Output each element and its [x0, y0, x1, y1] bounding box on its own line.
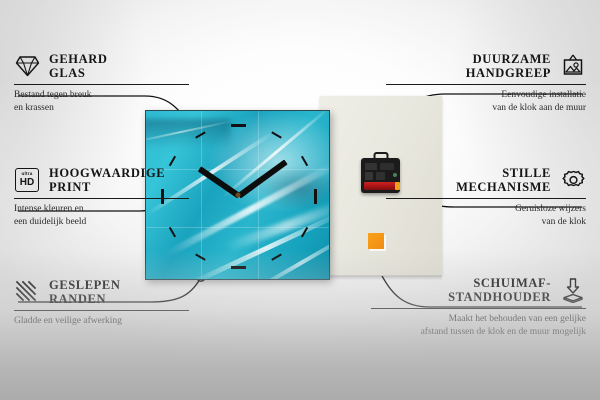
- feature-header: DUURZAME HANDGREEP: [386, 52, 586, 80]
- clock-tick: [169, 155, 176, 166]
- feature-duurzame-handgreep[interactable]: DUURZAME HANDGREEP Eenvoudige installati…: [386, 52, 586, 114]
- feature-rule: [14, 310, 189, 311]
- movement-detail: [376, 172, 385, 180]
- hanging-loop-icon: [373, 152, 388, 161]
- feature-rule: [14, 198, 189, 199]
- clock-tick: [301, 155, 308, 166]
- clock-tick: [271, 131, 282, 138]
- feature-header: ultra HD HOOGWAARDIGE PRINT: [14, 166, 189, 194]
- feature-subtitle-line1: Maakt het behouden van een gelijke: [371, 313, 586, 326]
- infographic-canvas: GEHARD GLAS Bestand tegen breuk en krass…: [0, 0, 600, 400]
- feature-stille-mechanisme[interactable]: STILLE MECHANISME Geruisloze wijzers van…: [386, 166, 586, 228]
- feature-subtitle-line2: een duidelijk beeld: [14, 216, 189, 229]
- picture-frame-hook-icon: [560, 53, 586, 79]
- gear-icon: [560, 167, 586, 193]
- feature-subtitle-line2: afstand tussen de klok en de muur mogeli…: [371, 326, 586, 339]
- glass-reflection-line: [258, 111, 259, 279]
- feature-title: DUURZAME HANDGREEP: [466, 52, 551, 80]
- feature-subtitle-line2: van de klok: [386, 216, 586, 229]
- feature-header: GEHARD GLAS: [14, 52, 189, 80]
- feature-title: SCHUIMAF- STANDHOUDER: [448, 276, 551, 304]
- feature-gehard-glas[interactable]: GEHARD GLAS Bestand tegen breuk en krass…: [14, 52, 189, 114]
- feature-subtitle-line1: Eenvoudige installatie: [386, 89, 586, 102]
- ultra-hd-icon: ultra HD: [14, 167, 40, 193]
- feature-rule: [371, 308, 586, 309]
- feature-title: GESLEPEN RANDEN: [49, 278, 121, 306]
- feature-title: HOOGWAARDIGE PRINT: [49, 166, 165, 194]
- diagonal-lines-icon: [14, 279, 40, 305]
- feature-subtitle-line1: Intense kleuren en: [14, 203, 189, 216]
- movement-detail: [365, 172, 373, 180]
- feature-title: GEHARD GLAS: [49, 52, 107, 80]
- clock-tick: [271, 254, 282, 261]
- feature-subtitle-line1: Geruisloze wijzers: [386, 203, 586, 216]
- clock-tick: [231, 124, 246, 127]
- movement-detail: [365, 163, 377, 170]
- feature-rule: [386, 198, 586, 199]
- feature-subtitle-line1: Bestand tegen breuk: [14, 89, 189, 102]
- feature-subtitle-line1: Gladde en veilige afwerking: [14, 315, 189, 328]
- feature-title: STILLE MECHANISME: [456, 166, 551, 194]
- clock-hour-hand: [197, 166, 240, 198]
- diamond-icon: [14, 53, 40, 79]
- feature-header: SCHUIMAF- STANDHOUDER: [371, 276, 586, 304]
- feature-rule: [14, 84, 189, 85]
- feature-geslepen-randen[interactable]: GESLEPEN RANDEN Gladde en veilige afwerk…: [14, 278, 189, 328]
- feature-header: GESLEPEN RANDEN: [14, 278, 189, 306]
- glass-reflection-line: [201, 111, 202, 279]
- clock-tick: [231, 266, 246, 269]
- clock-tick: [314, 189, 317, 204]
- feature-subtitle-line2: van de klok aan de muur: [386, 102, 586, 115]
- feature-subtitle-line2: en krassen: [14, 102, 189, 115]
- foam-standoff-icon: [560, 277, 586, 303]
- feature-rule: [386, 84, 586, 85]
- feature-hoogwaardige-print[interactable]: ultra HD HOOGWAARDIGE PRINT Intense kleu…: [14, 166, 189, 228]
- clock-pivot: [235, 193, 240, 198]
- feature-schuimafstandhouder[interactable]: SCHUIMAF- STANDHOUDER Maakt het behouden…: [371, 276, 586, 338]
- feature-header: STILLE MECHANISME: [386, 166, 586, 194]
- foam-spacer-pad: [368, 233, 384, 249]
